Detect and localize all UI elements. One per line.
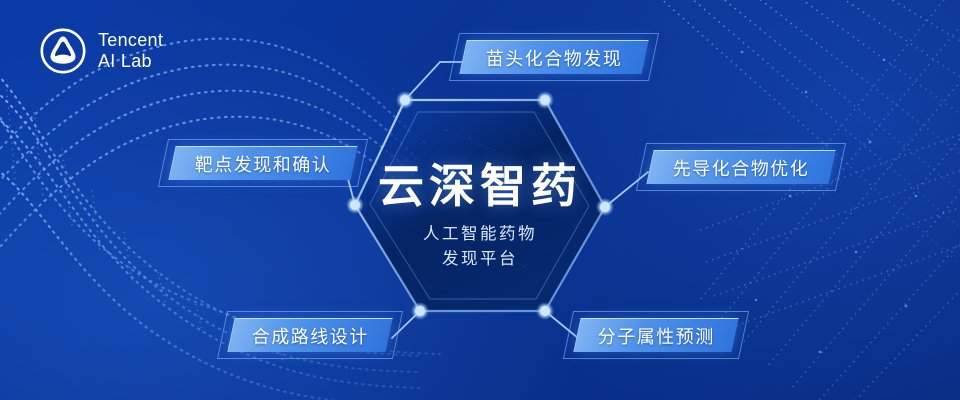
brand-line-2: AI Lab — [98, 51, 163, 72]
tencent-ai-lab-logo-icon — [40, 28, 86, 74]
node-top-left — [400, 95, 410, 105]
badge-target-discovery[interactable]: 靶点发现和确认 — [168, 146, 357, 180]
badge-property-prediction[interactable]: 分子属性预测 — [573, 318, 738, 352]
node-bottom-right — [540, 306, 550, 316]
poster-canvas: Tencent AI Lab 云深智药 人工智能药物 发现平台 苗头化合物发现靶… — [0, 0, 960, 400]
brand-line-1: Tencent — [98, 30, 163, 51]
badge-lead-optimization[interactable]: 先导化合物优化 — [646, 150, 835, 184]
node-top-right — [540, 95, 550, 105]
badge-label-property-prediction: 分子属性预测 — [598, 323, 715, 349]
badge-label-target-discovery: 靶点发现和确认 — [195, 151, 332, 177]
badge-synthesis-route-design[interactable]: 合成路线设计 — [227, 318, 392, 352]
node-bottom-left — [415, 306, 425, 316]
platform-subtitle-line1: 人工智能药物 — [330, 222, 630, 247]
center-title-block: 云深智药 人工智能药物 发现平台 — [330, 160, 630, 272]
brand-wordmark: Tencent AI Lab — [98, 30, 163, 72]
badge-label-lead-optimization: 先导化合物优化 — [673, 155, 810, 181]
badge-label-hit-compound-discovery: 苗头化合物发现 — [486, 45, 623, 71]
brand-logo: Tencent AI Lab — [40, 28, 163, 74]
badge-label-synthesis-route-design: 合成路线设计 — [252, 323, 369, 349]
platform-subtitle-line2: 发现平台 — [330, 247, 630, 272]
platform-title: 云深智药 — [330, 160, 630, 212]
badge-hit-compound-discovery[interactable]: 苗头化合物发现 — [459, 40, 648, 74]
